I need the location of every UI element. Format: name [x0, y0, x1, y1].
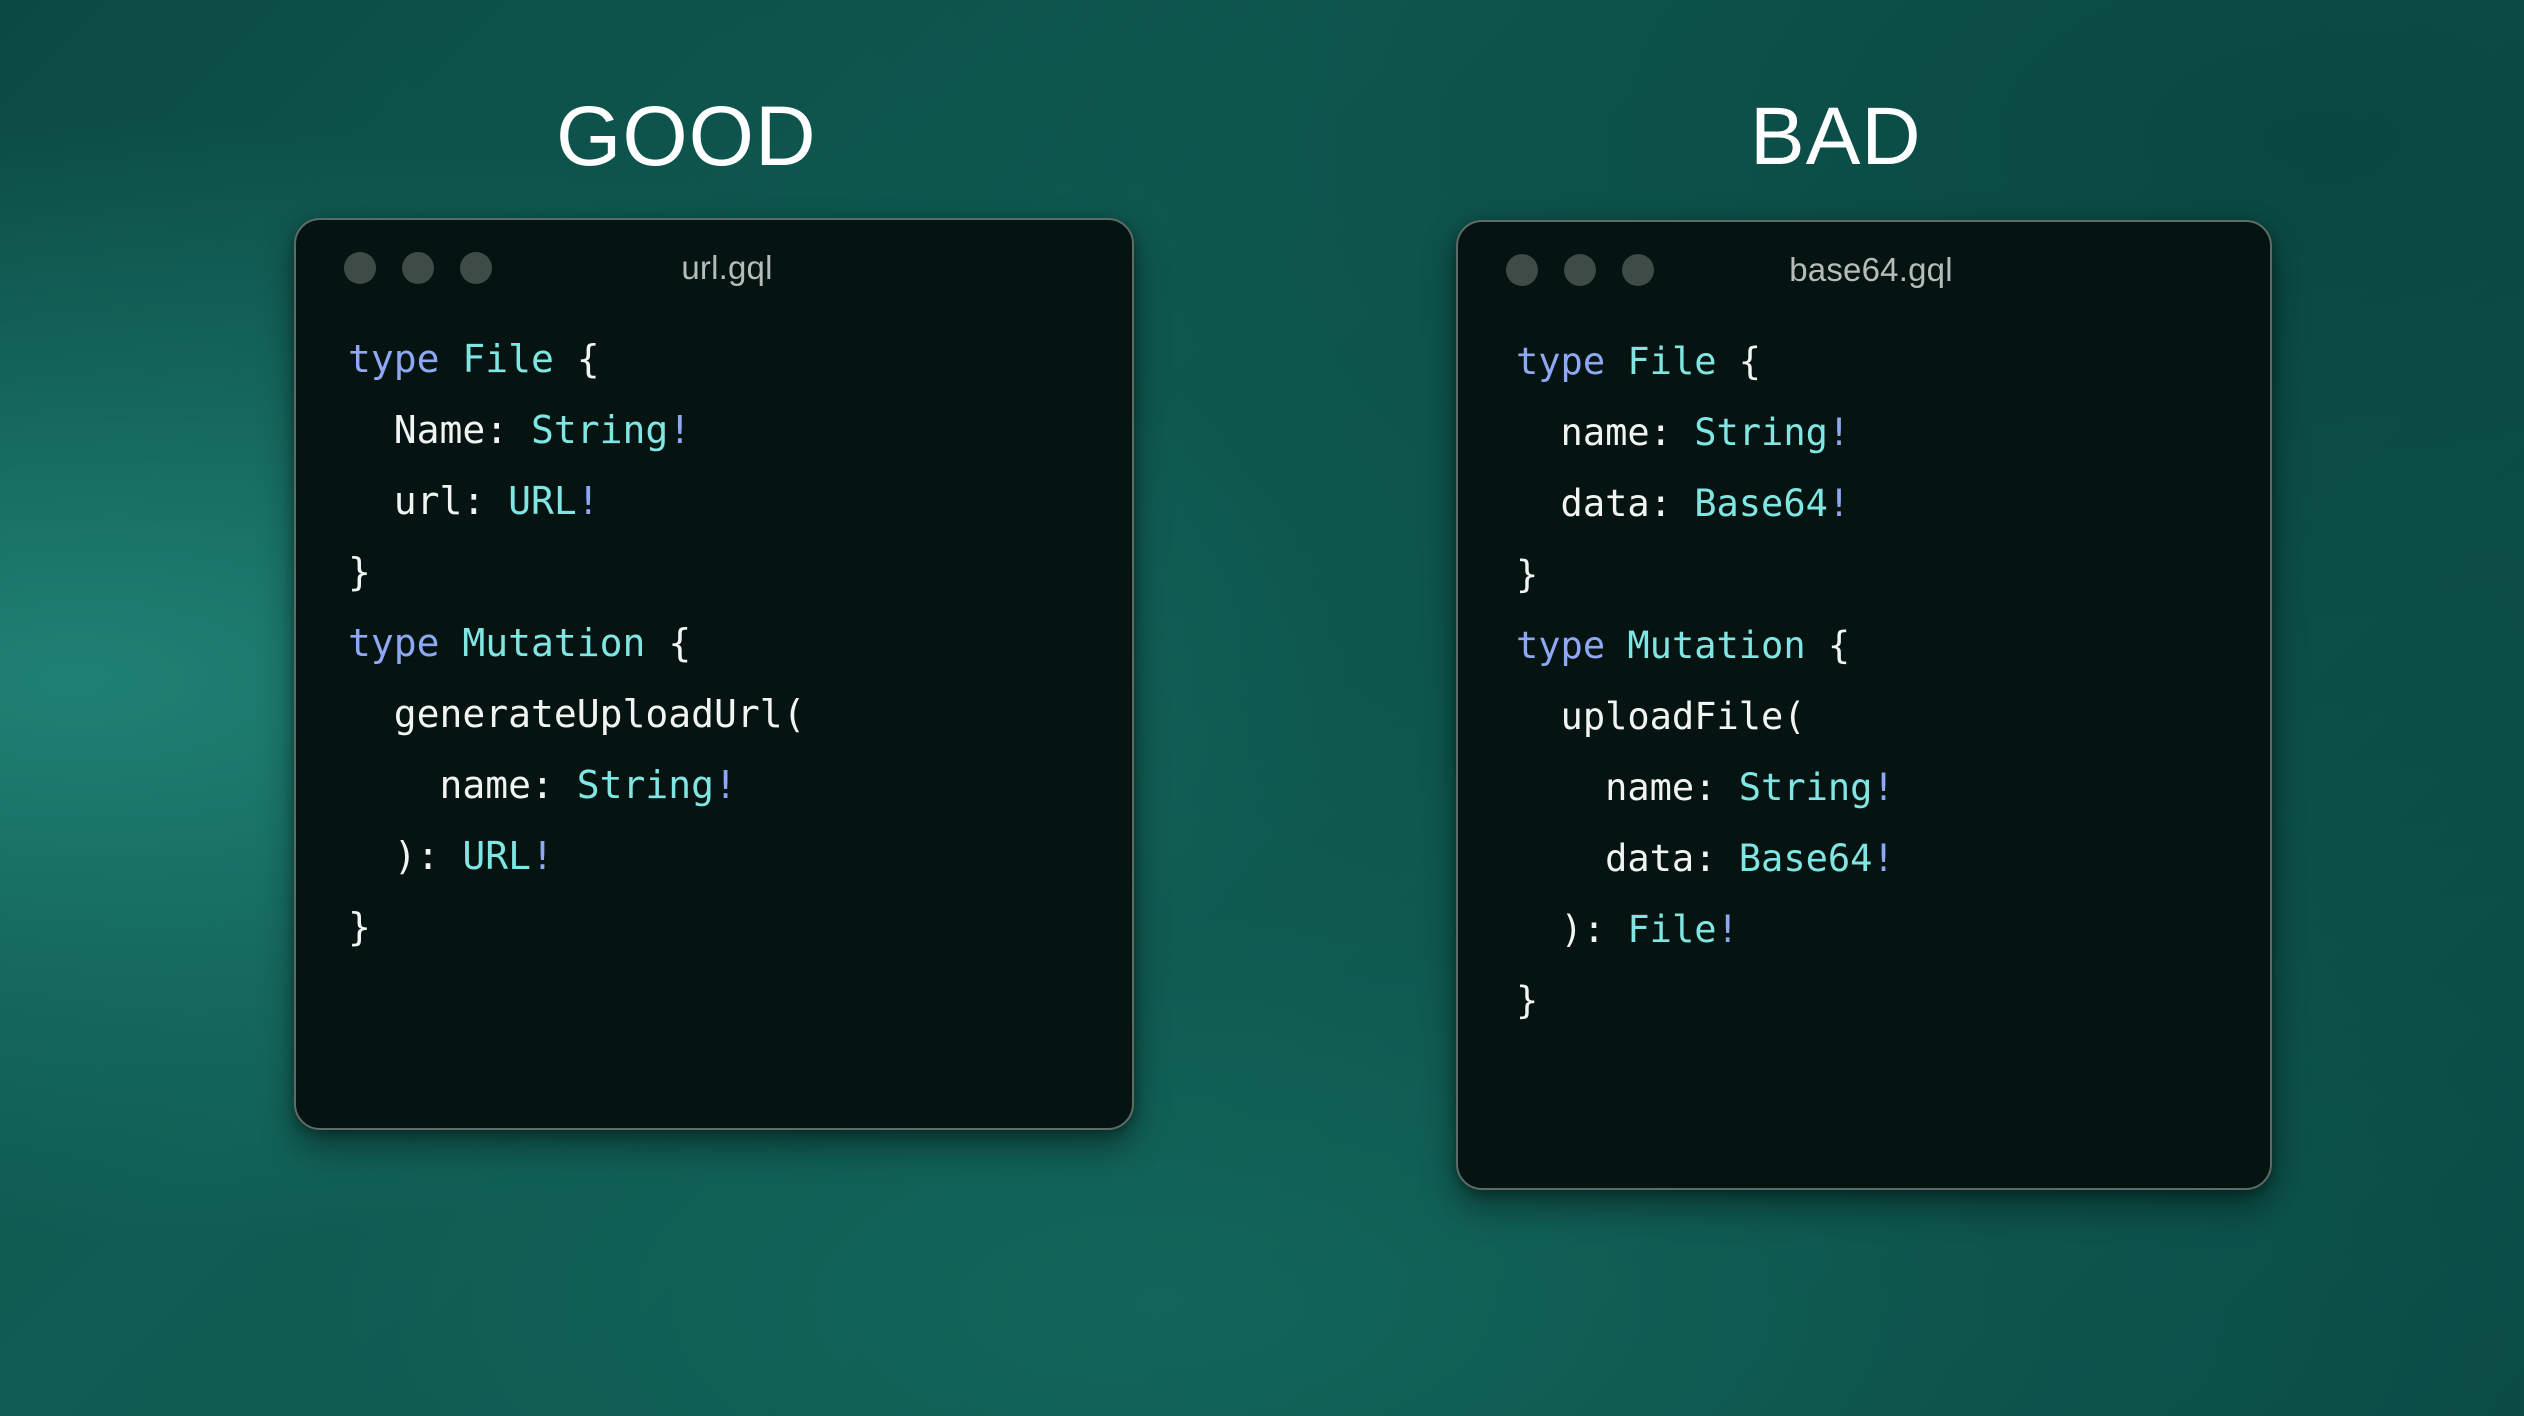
code-token: url:: [348, 479, 508, 523]
code-token: name:: [1516, 766, 1739, 809]
code-token: !: [531, 834, 554, 878]
titlebar-good: url.gql: [296, 220, 1132, 316]
code-token: !: [1828, 411, 1850, 454]
code-token: name:: [1516, 411, 1694, 454]
code-block-good: type File { Name: String! url: URL!}type…: [296, 316, 1132, 963]
code-line: name: String!: [348, 750, 1132, 821]
code-token: String: [1739, 766, 1873, 809]
code-token: File: [1627, 908, 1716, 951]
code-token: !: [1872, 837, 1894, 880]
code-token: [440, 621, 463, 665]
code-token: generateUploadUrl(: [348, 692, 806, 736]
code-token: Mutation: [462, 621, 645, 665]
code-token: type: [1516, 624, 1605, 667]
code-token: URL: [508, 479, 577, 523]
window-controls-good: [344, 252, 492, 284]
code-token: {: [1806, 624, 1851, 667]
code-line: }: [1516, 965, 2270, 1036]
code-line: }: [348, 537, 1132, 608]
code-line: url: URL!: [348, 466, 1132, 537]
minimize-dot-icon[interactable]: [402, 252, 434, 284]
maximize-dot-icon[interactable]: [1622, 254, 1654, 286]
titlebar-bad: base64.gql: [1458, 222, 2270, 318]
code-token: URL: [462, 834, 531, 878]
code-token: File: [462, 337, 554, 381]
code-token: !: [1717, 908, 1739, 951]
heading-bad: BAD: [1750, 90, 1922, 184]
code-line: type Mutation {: [1516, 610, 2270, 681]
code-line: type File {: [1516, 326, 2270, 397]
code-line: data: Base64!: [1516, 823, 2270, 894]
code-token: }: [348, 550, 371, 594]
code-token: !: [714, 763, 737, 807]
code-line: type Mutation {: [348, 608, 1132, 679]
code-token: type: [348, 337, 440, 381]
code-token: data:: [1516, 837, 1739, 880]
code-window-bad: base64.gql type File { name: String! dat…: [1456, 220, 2272, 1190]
code-token: String: [1694, 411, 1828, 454]
code-token: Mutation: [1627, 624, 1805, 667]
maximize-dot-icon[interactable]: [460, 252, 492, 284]
code-token: !: [1872, 766, 1894, 809]
code-token: ):: [1516, 908, 1627, 951]
code-token: String: [577, 763, 714, 807]
window-controls-bad: [1506, 254, 1654, 286]
code-token: }: [1516, 979, 1538, 1022]
code-line: Name: String!: [348, 395, 1132, 466]
code-line: data: Base64!: [1516, 468, 2270, 539]
code-token: {: [554, 337, 600, 381]
code-token: Name:: [348, 408, 531, 452]
code-line: ): URL!: [348, 821, 1132, 892]
code-token: type: [1516, 340, 1605, 383]
code-line: generateUploadUrl(: [348, 679, 1132, 750]
heading-good: GOOD: [556, 88, 817, 185]
code-token: [1605, 624, 1627, 667]
code-line: }: [1516, 539, 2270, 610]
code-line: uploadFile(: [1516, 681, 2270, 752]
code-token: {: [645, 621, 691, 665]
code-line: }: [348, 892, 1132, 963]
code-line: type File {: [348, 324, 1132, 395]
code-token: Base64: [1739, 837, 1873, 880]
code-window-good: url.gql type File { Name: String! url: U…: [294, 218, 1134, 1130]
code-token: {: [1717, 340, 1762, 383]
code-token: !: [577, 479, 600, 523]
close-dot-icon[interactable]: [344, 252, 376, 284]
minimize-dot-icon[interactable]: [1564, 254, 1596, 286]
code-token: File: [1627, 340, 1716, 383]
code-token: String: [531, 408, 668, 452]
code-line: name: String!: [1516, 397, 2270, 468]
code-token: ):: [348, 834, 462, 878]
code-token: uploadFile(: [1516, 695, 1806, 738]
code-token: [1605, 340, 1627, 383]
code-line: name: String!: [1516, 752, 2270, 823]
close-dot-icon[interactable]: [1506, 254, 1538, 286]
code-token: }: [348, 905, 371, 949]
code-token: name:: [348, 763, 577, 807]
code-token: data:: [1516, 482, 1694, 525]
code-token: }: [1516, 553, 1538, 596]
code-line: ): File!: [1516, 894, 2270, 965]
code-token: type: [348, 621, 440, 665]
code-token: !: [668, 408, 691, 452]
code-block-bad: type File { name: String! data: Base64!}…: [1458, 318, 2270, 1036]
code-token: Base64: [1694, 482, 1828, 525]
code-token: [440, 337, 463, 381]
code-token: !: [1828, 482, 1850, 525]
